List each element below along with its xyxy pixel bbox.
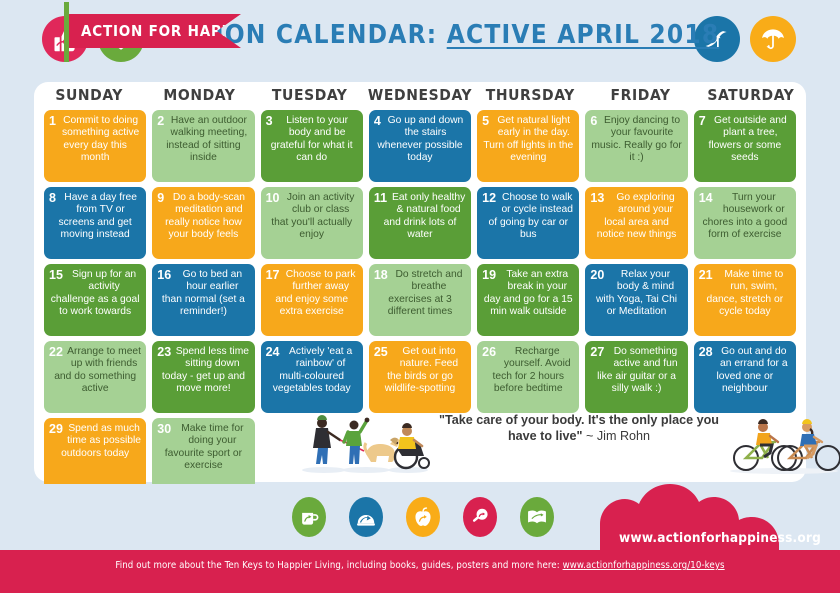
day-number: 16 — [157, 269, 171, 282]
day-action-text: Listen to your body and be grateful for … — [266, 115, 358, 165]
quote-author: ~ Jim Rohn — [586, 429, 650, 443]
dog-walkers-and-wheelchair-athlete-illustration — [290, 410, 430, 476]
calendar-day-cell[interactable]: 8Have a day free from TV or screens and … — [44, 187, 146, 259]
day-number: 15 — [49, 269, 63, 282]
day-number: 8 — [49, 192, 56, 205]
day-number: 23 — [157, 346, 171, 359]
day-number: 17 — [266, 269, 280, 282]
day-number: 7 — [699, 115, 706, 128]
footer-note-text: Find out more about the Ten Keys to Happ… — [115, 560, 562, 571]
calendar-day-cell[interactable]: 11Eat only healthy & natural food and dr… — [369, 187, 471, 259]
day-number: 27 — [590, 346, 604, 359]
magnifying-glass-icon — [463, 497, 497, 537]
calendar-day-cell[interactable]: 26Recharge yourself. Avoid tech for 2 ho… — [477, 341, 579, 413]
day-number: 3 — [266, 115, 273, 128]
calendar-day-cell[interactable]: 17Choose to park further away and enjoy … — [261, 264, 363, 336]
page-title: ACTION CALENDAR: ACTIVE APRIL 2018 — [160, 20, 680, 50]
day-number: 12 — [482, 192, 496, 205]
day-number: 25 — [374, 346, 388, 359]
quote-area: "Take care of your body. It's the only p… — [282, 404, 802, 480]
calendar-day-cell[interactable]: 19Take an extra break in your day and go… — [477, 264, 579, 336]
calendar-day-cell[interactable]: 7Get outside and plant a tree, flowers o… — [694, 110, 796, 182]
day-number: 26 — [482, 346, 496, 359]
calendar-day-cell[interactable]: 18Do stretch and breathe exercises at 3 … — [369, 264, 471, 336]
day-action-text: Have a day free from TV or screens and g… — [49, 192, 141, 242]
calendar-day-cell[interactable]: 9Do a body-scan meditation and really no… — [152, 187, 254, 259]
day-header-monday: MONDAY — [144, 86, 254, 110]
day-number: 22 — [49, 346, 63, 359]
day-action-text: Get outside and plant a tree, flowers or… — [699, 115, 791, 165]
day-header-tuesday: TUESDAY — [255, 86, 365, 110]
page-title-underlined: ACTIVE APRIL 2018 — [447, 20, 720, 50]
day-number: 4 — [374, 115, 381, 128]
day-number: 29 — [49, 423, 63, 436]
calendar-day-cell[interactable]: 10Join an activity club or class that yo… — [261, 187, 363, 259]
day-number: 5 — [482, 115, 489, 128]
calendar-day-cell[interactable]: 21Make time to run, swim, dance, stretch… — [694, 264, 796, 336]
calendar-day-cell[interactable]: 24Actively 'eat a rainbow' of multi-colo… — [261, 341, 363, 413]
day-number: 19 — [482, 269, 496, 282]
calendar-day-cell[interactable]: 4Go up and down the stairs whenever poss… — [369, 110, 471, 182]
day-number: 24 — [266, 346, 280, 359]
telephone-icon — [349, 497, 383, 537]
day-number: 20 — [590, 269, 604, 282]
apple-icon — [406, 497, 440, 537]
calendar-day-cell[interactable]: 6Enjoy dancing to your favourite music. … — [585, 110, 687, 182]
day-action-text: Go up and down the stairs whenever possi… — [374, 115, 466, 165]
day-header-sunday: SUNDAY — [34, 86, 144, 110]
calendar-day-cell[interactable]: 29Spend as much time as possible outdoor… — [44, 418, 146, 490]
day-action-text: Eat only healthy & natural food and drin… — [374, 192, 466, 242]
footer-lower-band — [0, 550, 840, 593]
day-header-thursday: THURSDAY — [475, 86, 585, 110]
day-number: 18 — [374, 269, 388, 282]
day-header-wednesday: WEDNESDAY — [365, 86, 475, 110]
calendar-day-headers: SUNDAYMONDAYTUESDAYWEDNESDAYTHURSDAYFRID… — [34, 86, 806, 110]
brand-ribbon: ACTION FOR HAPPINESS — [69, 14, 241, 48]
ten-keys-link[interactable]: www.actionforhappiness.org/10-keys — [563, 560, 725, 571]
day-number: 21 — [699, 269, 713, 282]
calendar-day-cell[interactable]: 14Turn your housework or chores into a g… — [694, 187, 796, 259]
calendar-day-cell[interactable]: 2Have an outdoor walking meeting, instea… — [152, 110, 254, 182]
calendar-day-cell[interactable]: 22Arrange to meet up with friends and do… — [44, 341, 146, 413]
day-number: 9 — [157, 192, 164, 205]
day-action-text: Enjoy dancing to your favourite music. R… — [590, 115, 682, 165]
green-accent-bar — [64, 2, 69, 62]
day-number: 13 — [590, 192, 604, 205]
umbrella-icon — [750, 16, 796, 62]
calendar-day-cell[interactable]: 3Listen to your body and be grateful for… — [261, 110, 363, 182]
calendar-day-cell[interactable]: 23Spend less time sitting down today - g… — [152, 341, 254, 413]
day-number: 6 — [590, 115, 597, 128]
calendar-card: SUNDAYMONDAYTUESDAYWEDNESDAYTHURSDAYFRID… — [34, 82, 806, 482]
calendar-day-cell[interactable]: 13Go exploring around your local area an… — [585, 187, 687, 259]
calendar-day-cell[interactable]: 5Get natural light early in the day. Tur… — [477, 110, 579, 182]
day-action-text: Commit to doing something active every d… — [49, 115, 141, 165]
day-number: 2 — [157, 115, 164, 128]
footer-note: Find out more about the Ten Keys to Happ… — [0, 560, 840, 571]
day-number: 14 — [699, 192, 713, 205]
day-number: 1 — [49, 115, 56, 128]
open-book-icon — [520, 497, 554, 537]
day-number: 28 — [699, 346, 713, 359]
calendar-day-cell[interactable]: 25Get out into nature. Feed the birds or… — [369, 341, 471, 413]
day-number: 30 — [157, 423, 171, 436]
calendar-day-cell[interactable]: 20Relax your body & mind with Yoga, Tai … — [585, 264, 687, 336]
calendar-day-cell[interactable]: 30Make time for doing your favourite spo… — [152, 418, 254, 490]
calendar-day-cell[interactable]: 16Go to bed an hour earlier than normal … — [152, 264, 254, 336]
quote-text-block: "Take care of your body. It's the only p… — [434, 412, 724, 444]
two-cyclists-illustration — [722, 410, 840, 476]
day-number: 11 — [374, 192, 387, 205]
calendar-day-cell[interactable]: 15Sign up for an activity challenge as a… — [44, 264, 146, 336]
day-number: 10 — [266, 192, 280, 205]
day-action-text: Do a body-scan meditation and really not… — [157, 192, 249, 242]
quote-text: "Take care of your body. It's the only p… — [439, 413, 719, 443]
website-url[interactable]: www.actionforhappiness.org — [612, 530, 828, 546]
calendar-day-cell[interactable]: 12Choose to walk or cycle instead of goi… — [477, 187, 579, 259]
day-header-friday: FRIDAY — [585, 86, 695, 110]
action-calendar-page: ACTION CALENDAR: ACTIVE APRIL 2018 SUNDA… — [0, 0, 840, 593]
calendar-day-cell[interactable]: 1Commit to doing something active every … — [44, 110, 146, 182]
calendar-day-cell[interactable]: 27Do something active and fun like air g… — [585, 341, 687, 413]
day-header-saturday: SATURDAY — [696, 86, 806, 110]
calendar-day-cell[interactable]: 28Go out and do an errand for a loved on… — [694, 341, 796, 413]
day-action-text: Have an outdoor walking meeting, instead… — [157, 115, 249, 165]
mug-icon — [292, 497, 326, 537]
day-action-text: Get natural light early in the day. Turn… — [482, 115, 574, 165]
